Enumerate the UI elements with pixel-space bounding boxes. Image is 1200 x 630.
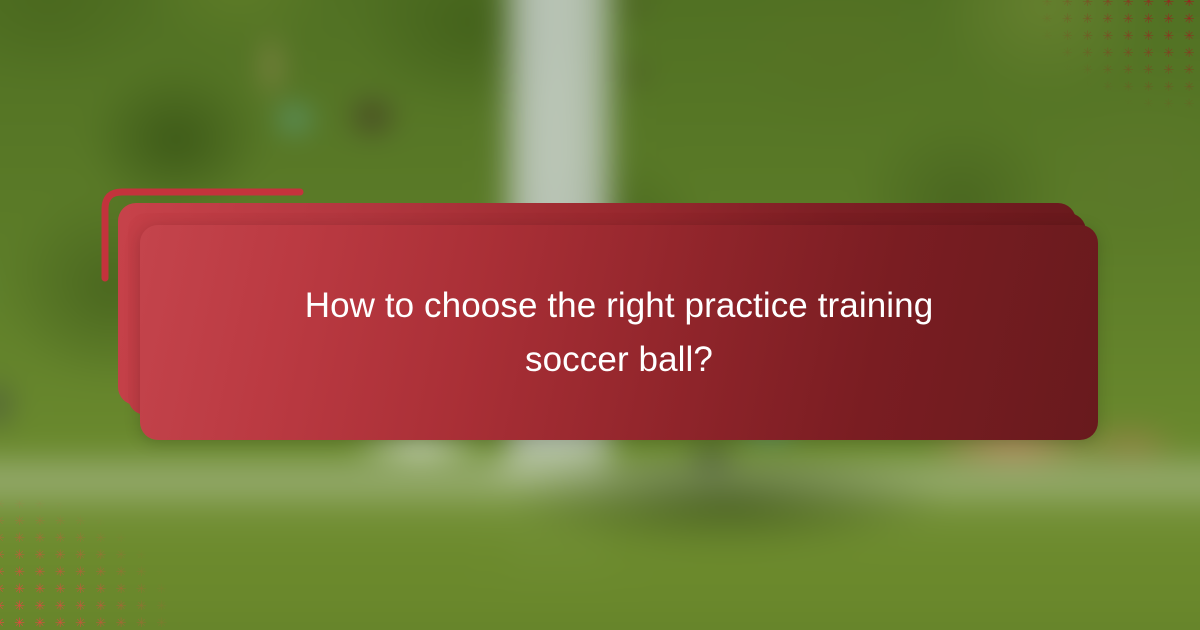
title-card: How to choose the right practice trainin… [140,225,1098,440]
page-title: How to choose the right practice trainin… [259,279,979,385]
og-image-canvas: ✳✳✳✳✳✳✳✳✳ ✳✳✳✳✳✳✳✳✳ ✳✳✳✳✳✳✳✳✳ ✳✳✳✳✳✳✳✳✳ … [0,0,1200,630]
